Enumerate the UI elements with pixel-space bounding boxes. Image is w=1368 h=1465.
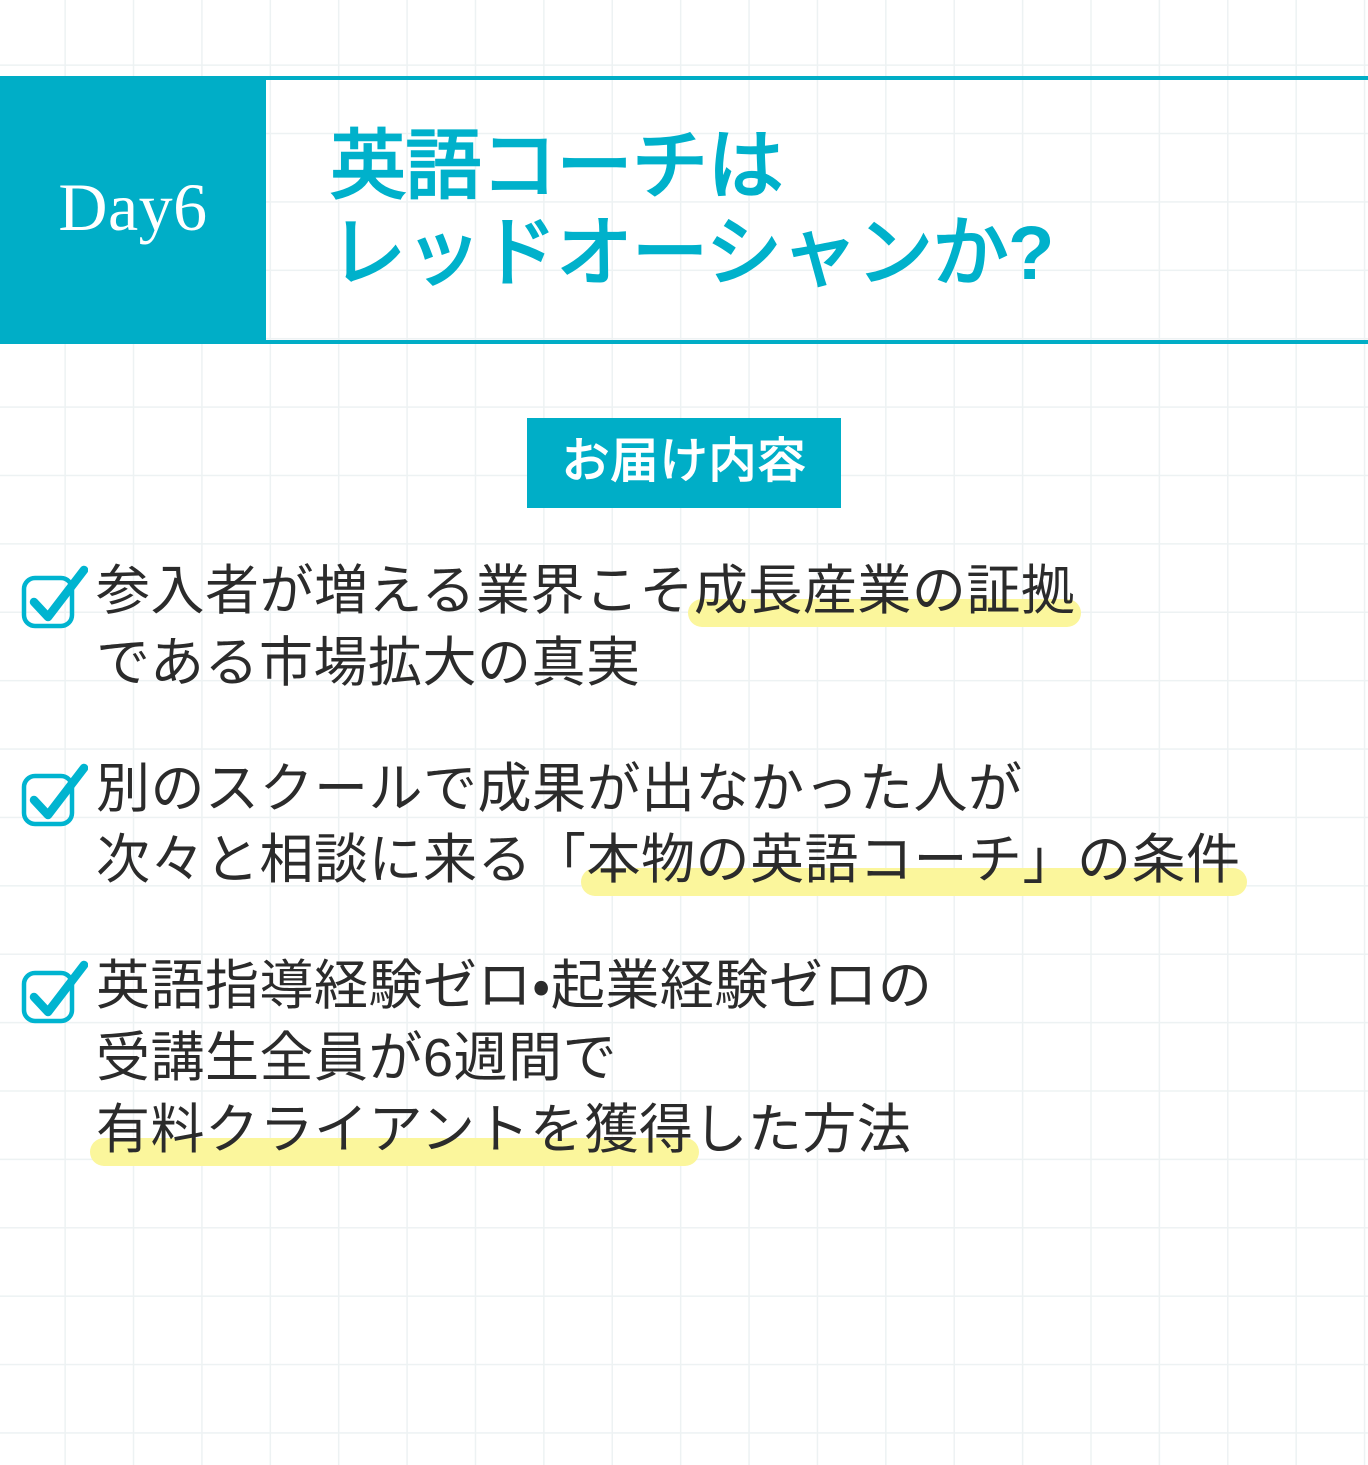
list-item-line: 英語指導経験ゼロ・起業経験ゼロの	[96, 951, 1368, 1023]
section-badge-row: お届け内容	[0, 418, 1368, 508]
list-item-line: 受講生全員が6週間で	[96, 1023, 1368, 1095]
list-item: 英語指導経験ゼロ・起業経験ゼロの受講生全員が6週間で有料クライアントを獲得した方…	[18, 951, 1368, 1166]
checkbox-checked-icon	[18, 564, 88, 638]
list-item: 参入者が増える業界こそ成長産業の証拠である市場拡大の真実	[18, 556, 1368, 700]
list-item-line: 別のスクールで成果が出なかった人が	[96, 754, 1368, 826]
plain-text: 英語指導経験ゼロ・起業経験ゼロの	[96, 956, 932, 1016]
plain-text: 別のスクールで成果が出なかった人が	[96, 759, 1023, 819]
page-title-line-2: レッドオーシャンか?	[330, 210, 1368, 297]
section-badge: お届け内容	[527, 418, 840, 508]
page-title: 英語コーチは レッドオーシャンか?	[266, 80, 1368, 340]
list-item-line: 参入者が増える業界こそ成長産業の証拠	[96, 556, 1368, 628]
plain-text: 参入者が増える業界こそ	[96, 561, 694, 621]
list-item-line: 有料クライアントを獲得した方法	[96, 1095, 1368, 1167]
checkbox-checked-icon	[18, 959, 88, 1033]
plain-text: である市場拡大の真実	[96, 633, 640, 693]
deliverables-list: 参入者が増える業界こそ成長産業の証拠である市場拡大の真実別のスクールで成果が出な…	[0, 556, 1368, 1167]
list-item-text: 参入者が増える業界こそ成長産業の証拠である市場拡大の真実	[96, 556, 1368, 700]
list-item: 別のスクールで成果が出なかった人が次々と相談に来る「本物の英語コーチ」の条件	[18, 754, 1368, 898]
plain-text: した方法	[693, 1100, 911, 1160]
plain-text: 次々と相談に来る「	[96, 830, 587, 890]
page-title-line-1: 英語コーチは	[330, 123, 1368, 210]
list-item-text: 別のスクールで成果が出なかった人が次々と相談に来る「本物の英語コーチ」の条件	[96, 754, 1368, 898]
list-item-line: である市場拡大の真実	[96, 628, 1368, 700]
slide-page: Day6 英語コーチは レッドオーシャンか? お届け内容 参入者が増える業界こそ…	[0, 0, 1368, 1465]
plain-text: 受講生全員が6週間で	[96, 1028, 617, 1088]
highlighted-text: 成長産業の証拠	[694, 556, 1076, 628]
day-badge-label: Day6	[58, 173, 207, 241]
list-item-text: 英語指導経験ゼロ・起業経験ゼロの受講生全員が6週間で有料クライアントを獲得した方…	[96, 951, 1368, 1166]
section-badge-label: お届け内容	[561, 435, 806, 488]
highlighted-text: 有料クライアントを獲得	[96, 1095, 693, 1167]
checkbox-checked-icon	[18, 762, 88, 836]
highlighted-text: 本物の英語コーチ」の条件	[587, 825, 1241, 897]
day-badge: Day6	[0, 80, 266, 340]
header-band: Day6 英語コーチは レッドオーシャンか?	[0, 76, 1368, 344]
list-item-line: 次々と相談に来る「本物の英語コーチ」の条件	[96, 825, 1368, 897]
